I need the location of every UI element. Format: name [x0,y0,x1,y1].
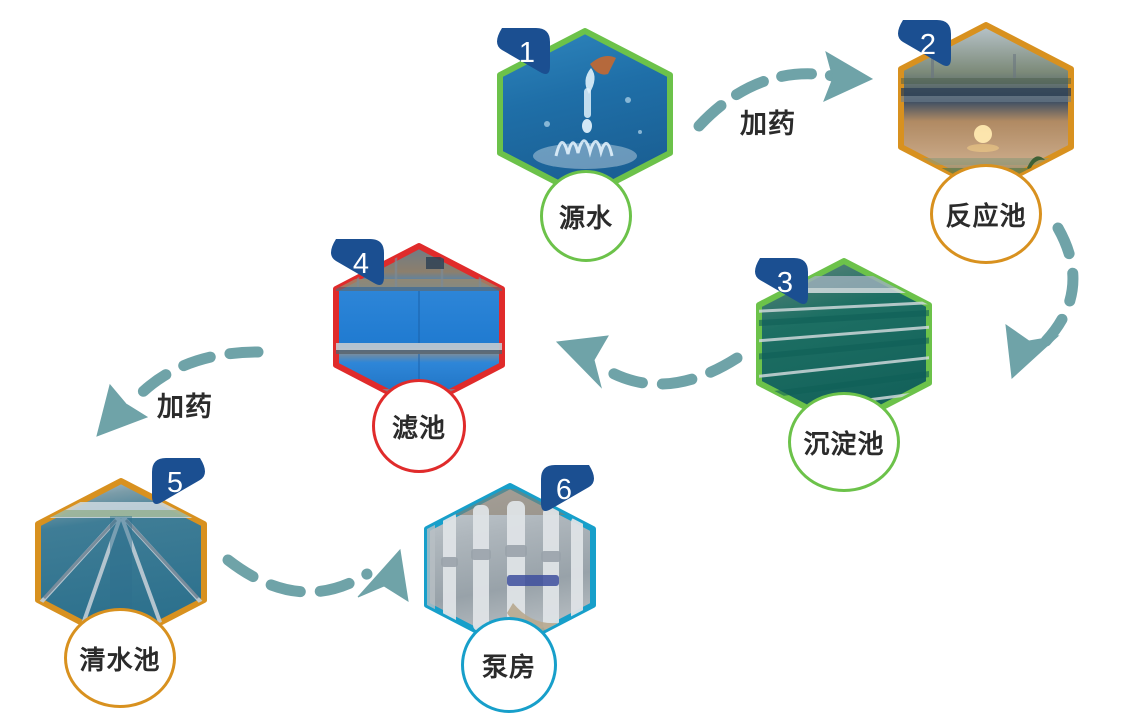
node-badge-2-number: 2 [893,18,953,72]
node-label-3: 沉淀池 [788,392,900,492]
node-label-2: 反应池 [930,164,1042,264]
node-badge-4: 4 [326,237,386,291]
node-label-1-text: 源水 [559,198,613,235]
node-badge-6-number: 6 [539,463,599,517]
node-label-4: 滤池 [372,379,466,473]
node-label-6: 泵房 [461,617,557,713]
process-flow-diagram: 1 源水 [0,0,1130,714]
node-badge-6: 6 [539,463,599,517]
arrow-caption-dosing-1: 加药 [740,102,796,141]
arrow-5-to-6 [228,550,408,601]
node-label-2-text: 反应池 [945,196,1026,233]
node-badge-3: 3 [750,256,810,310]
process-node-2[interactable]: 2 反应池 [895,22,1077,252]
process-node-6[interactable]: 6 泵房 [421,483,599,711]
process-node-5[interactable]: 5 清水池 [32,478,210,706]
arrow-caption-dosing-2: 加药 [157,385,213,424]
arrow-caption-dosing-2-text: 加药 [157,392,213,423]
node-label-3-text: 沉淀池 [803,424,884,461]
arrow-3-to-4 [557,336,737,387]
node-badge-4-number: 4 [326,237,386,291]
node-label-5: 清水池 [64,608,176,708]
node-label-1: 源水 [540,170,632,262]
node-badge-5: 5 [150,456,210,510]
node-badge-5-number: 5 [150,456,210,510]
process-node-1[interactable]: 1 源水 [494,28,676,258]
arrow-caption-dosing-1-text: 加药 [740,109,796,140]
node-badge-2: 2 [893,18,953,72]
node-badge-1-number: 1 [492,26,552,80]
process-node-4[interactable]: 4 滤池 [330,243,508,471]
node-label-4-text: 滤池 [392,408,446,445]
node-badge-3-number: 3 [750,256,810,310]
node-label-5-text: 清水池 [79,640,160,677]
node-badge-1: 1 [492,26,552,80]
process-node-3[interactable]: 3 沉淀池 [753,258,935,488]
node-label-6-text: 泵房 [482,647,536,684]
